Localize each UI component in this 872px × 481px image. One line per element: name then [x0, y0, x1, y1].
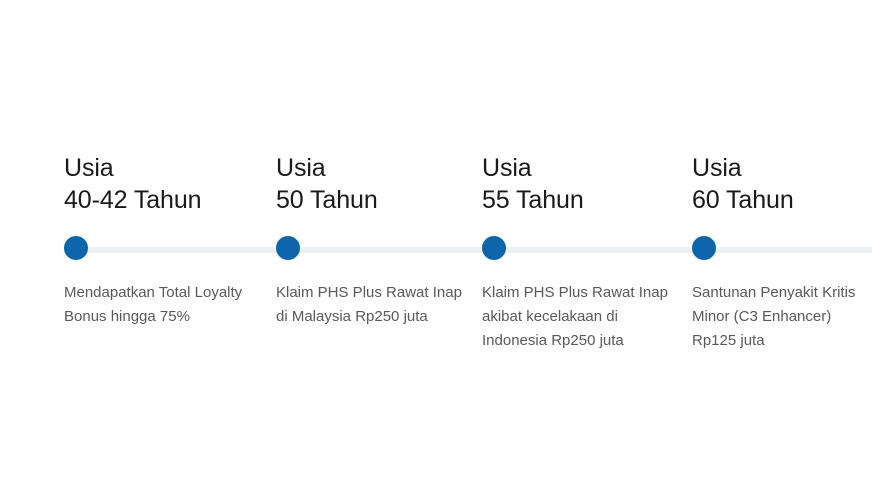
milestone-heading-value: 55 Tahun: [482, 184, 678, 216]
milestone-heading: Usia 55 Tahun: [482, 152, 678, 216]
milestone-heading-value: 60 Tahun: [692, 184, 872, 216]
milestone-description: Klaim PHS Plus Rawat Inap akibat kecelak…: [482, 281, 672, 353]
milestone-heading-value: 50 Tahun: [276, 184, 472, 216]
milestone-heading-label: Usia: [276, 152, 472, 184]
milestone-heading: Usia 50 Tahun: [276, 152, 472, 216]
timeline-node-dot-icon[interactable]: [692, 236, 716, 260]
milestone-description: Santunan Penyakit Kritis Minor (C3 Enhan…: [692, 281, 872, 353]
milestone-heading-value: 40-42 Tahun: [64, 184, 260, 216]
milestone-dot-row: [482, 234, 678, 266]
milestone-dot-row: [692, 234, 872, 266]
timeline-node-dot-icon[interactable]: [276, 236, 300, 260]
timeline-milestone-2: Usia 55 Tahun Klaim PHS Plus Rawat Inap …: [482, 152, 678, 353]
milestone-heading-label: Usia: [64, 152, 260, 184]
milestone-heading: Usia 40-42 Tahun: [64, 152, 260, 216]
milestone-description: Mendapatkan Total Loyalty Bonus hingga 7…: [64, 281, 254, 329]
milestone-heading-label: Usia: [692, 152, 872, 184]
milestone-dot-row: [64, 234, 260, 266]
timeline-section: Usia 40-42 Tahun Mendapatkan Total Loyal…: [0, 0, 872, 481]
timeline-milestone-3: Usia 60 Tahun Santunan Penyakit Kritis M…: [692, 152, 872, 353]
timeline-milestone-0: Usia 40-42 Tahun Mendapatkan Total Loyal…: [64, 152, 260, 329]
timeline-node-dot-icon[interactable]: [482, 236, 506, 260]
milestone-description: Klaim PHS Plus Rawat Inap di Malaysia Rp…: [276, 281, 466, 329]
timeline-milestone-1: Usia 50 Tahun Klaim PHS Plus Rawat Inap …: [276, 152, 472, 329]
milestone-heading-label: Usia: [482, 152, 678, 184]
milestone-dot-row: [276, 234, 472, 266]
timeline-node-dot-icon[interactable]: [64, 236, 88, 260]
milestone-heading: Usia 60 Tahun: [692, 152, 872, 216]
